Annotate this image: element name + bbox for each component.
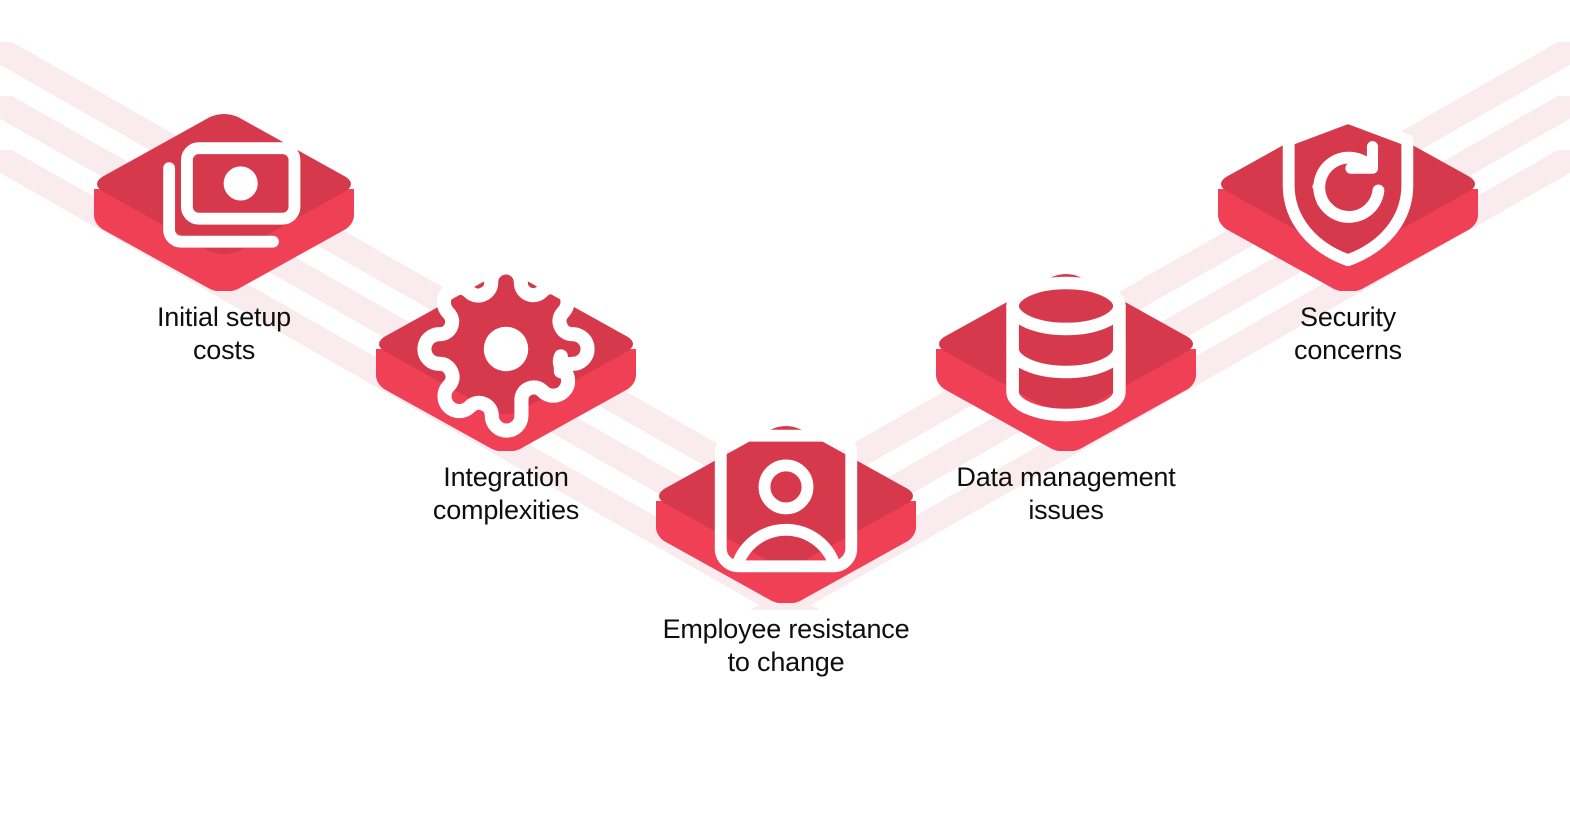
isometric-cube [372, 273, 640, 451]
process-node-employee-resistance-to-change[interactable]: Employee resistance to change [652, 425, 920, 603]
process-node-data-management-issues[interactable]: Data management issues [932, 273, 1200, 451]
process-node-security-concerns[interactable]: Security concerns [1214, 113, 1482, 291]
node-label: Integration complexities [326, 461, 686, 527]
isometric-cube [90, 113, 358, 291]
isometric-cube [1214, 113, 1482, 291]
cube-shape [1214, 113, 1482, 291]
node-label: Data management issues [886, 461, 1246, 527]
isometric-cube [932, 273, 1200, 451]
cube-shape [90, 113, 358, 291]
process-node-initial-setup-costs[interactable]: Initial setup costs [90, 113, 358, 291]
node-label: Employee resistance to change [606, 613, 966, 679]
cube-shape [652, 425, 920, 603]
process-node-integration-complexities[interactable]: Integration complexities [372, 273, 640, 451]
node-label: Initial setup costs [44, 301, 404, 367]
isometric-cube [652, 425, 920, 603]
node-label: Security concerns [1168, 301, 1528, 367]
cube-shape [372, 273, 640, 451]
cube-shape [932, 273, 1200, 451]
diagram-canvas: Initial setup costs Integration complexi… [0, 0, 1570, 816]
